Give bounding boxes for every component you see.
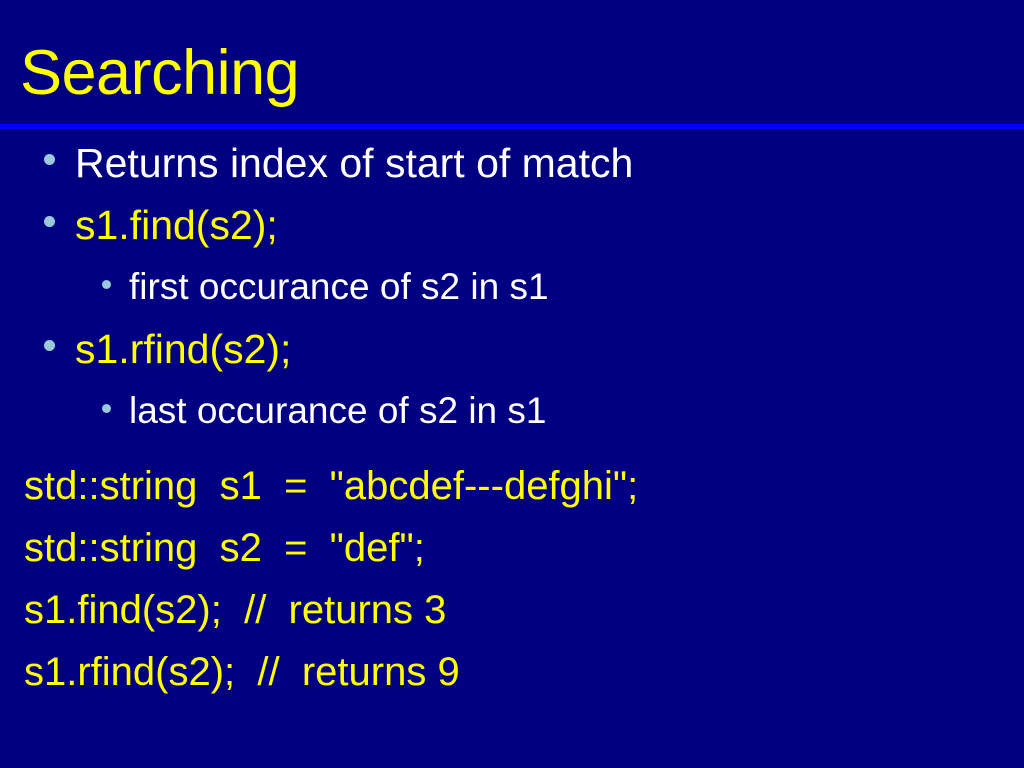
bullet-item-label: s1.rfind(s2); — [75, 320, 291, 378]
bullet-item: s1.rfind(s2); — [0, 320, 1024, 382]
title-divider-rule — [0, 124, 1024, 129]
bullet-marker-icon — [44, 340, 55, 351]
sub-bullet-item-label: first occurance of s2 in s1 — [129, 258, 549, 316]
page-title: Searching — [20, 38, 299, 108]
bullet-item: s1.find(s2); — [0, 196, 1024, 258]
presentation-slide: Searching Returns index of start of matc… — [0, 0, 1024, 768]
bullet-item: Returns index of start of match — [0, 134, 1024, 196]
bullet-marker-icon — [44, 216, 55, 227]
bullet-marker-icon — [102, 280, 111, 289]
sub-bullet-item: first occurance of s2 in s1 — [0, 258, 1024, 320]
code-line: s1.rfind(s2); // returns 9 — [24, 641, 1004, 703]
bullet-marker-icon — [44, 154, 55, 165]
code-line: std::string s2 = "def"; — [24, 517, 1004, 579]
code-line: s1.find(s2); // returns 3 — [24, 579, 1004, 641]
bullet-item-label: Returns index of start of match — [75, 134, 633, 192]
code-example-block: std::string s1 = "abcdef---defghi"; std:… — [24, 455, 1004, 703]
code-line: std::string s1 = "abcdef---defghi"; — [24, 455, 1004, 517]
bullet-marker-icon — [102, 404, 111, 413]
bullet-item-label: s1.find(s2); — [75, 196, 278, 254]
sub-bullet-item-label: last occurance of s2 in s1 — [129, 382, 547, 440]
slide-body: Returns index of start of match s1.find(… — [0, 134, 1024, 444]
sub-bullet-item: last occurance of s2 in s1 — [0, 382, 1024, 444]
